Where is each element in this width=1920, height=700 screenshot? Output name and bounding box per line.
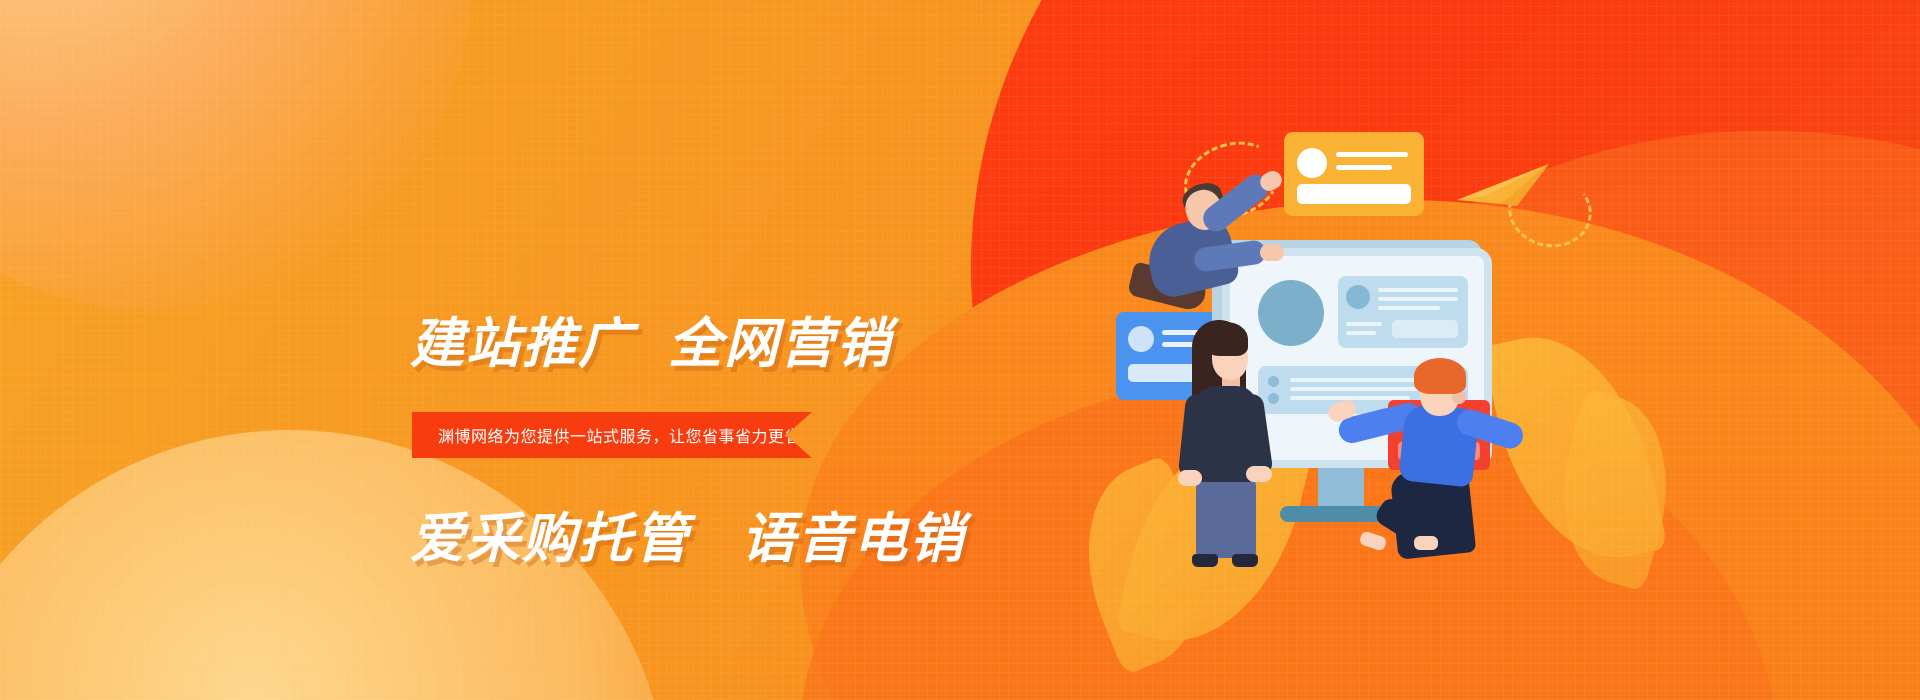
- text-line: [1346, 322, 1382, 326]
- headline-line-2: 爱采购托管 语音电销: [410, 509, 1130, 570]
- input-bar: [1297, 184, 1411, 204]
- hero-illustration: [1120, 120, 1540, 580]
- subtitle-text: 渊博网络为您提供一站式服务，让您省事省力更省心: [438, 423, 818, 447]
- avatar: [1346, 285, 1370, 309]
- foot-right: [1414, 536, 1438, 550]
- headline-line-1: 建站推广 全网营销: [410, 314, 1130, 375]
- shoe-left: [1192, 554, 1218, 567]
- legs: [1196, 476, 1256, 558]
- person-woman-standing: [1168, 316, 1288, 576]
- foot-left: [1358, 530, 1387, 551]
- text-line: [1336, 152, 1408, 157]
- avatar: [1297, 148, 1327, 178]
- text-line: [1378, 306, 1440, 310]
- promo-banner: 建站推广 全网营销 爱采购托管 语音电销 渊博网络为您提供一站式服务，让您省事省…: [0, 0, 1920, 700]
- person-man-leaning: [1352, 358, 1512, 578]
- screen-button: [1392, 320, 1458, 338]
- hand-left: [1178, 470, 1202, 486]
- subtitle-ribbon: 渊博网络为您提供一站式服务，让您省事省力更省心: [412, 412, 812, 458]
- text-line: [1336, 165, 1392, 170]
- hair-front: [1204, 322, 1248, 356]
- hand-right: [1246, 466, 1272, 482]
- screen-panel: [1338, 276, 1468, 348]
- hair: [1414, 358, 1466, 394]
- text-line: [1378, 288, 1458, 292]
- text-line: [1346, 331, 1376, 335]
- person-climbing: [1136, 166, 1276, 336]
- shoe-right: [1232, 554, 1258, 567]
- yellow-profile-card: [1284, 132, 1424, 216]
- hand-lower: [1260, 244, 1284, 261]
- text-line: [1378, 297, 1458, 301]
